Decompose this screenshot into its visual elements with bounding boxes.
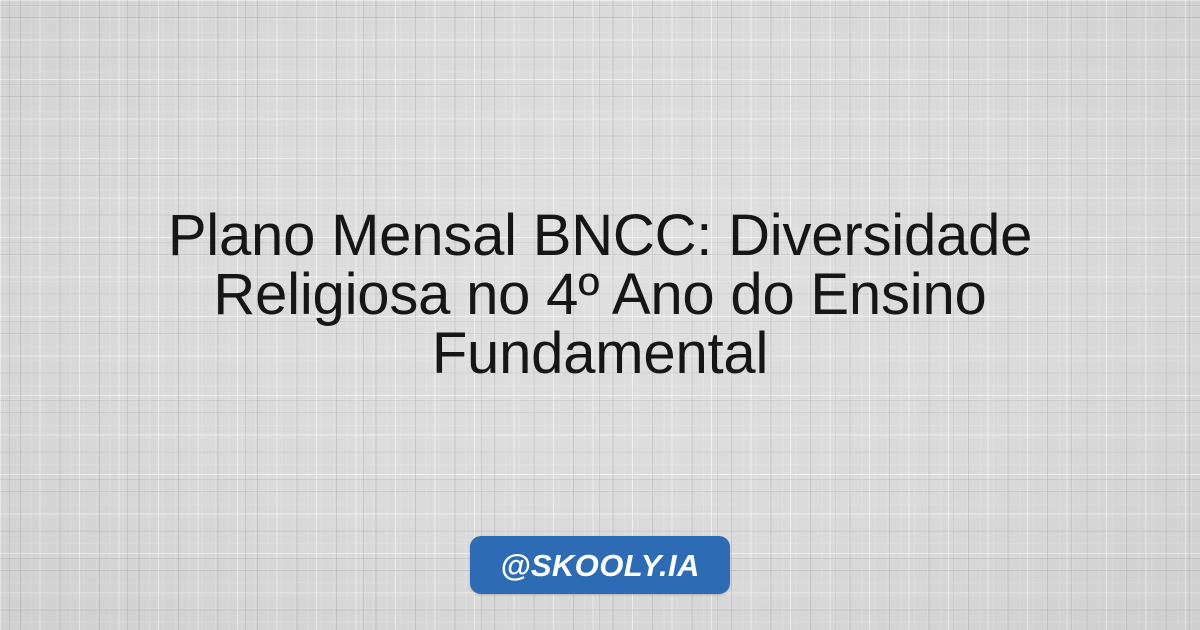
page-title: Plano Mensal BNCC: Diversidade Religiosa… xyxy=(52,206,1148,383)
social-share-card: Plano Mensal BNCC: Diversidade Religiosa… xyxy=(0,0,1200,630)
card-content: Plano Mensal BNCC: Diversidade Religiosa… xyxy=(0,0,1200,630)
title-block: Plano Mensal BNCC: Diversidade Religiosa… xyxy=(52,206,1148,383)
brand-badge[interactable]: @SKOOLY.IA xyxy=(470,536,730,594)
brand-badge-label: @SKOOLY.IA xyxy=(500,550,700,581)
brand-badge-container: @SKOOLY.IA xyxy=(0,536,1200,594)
